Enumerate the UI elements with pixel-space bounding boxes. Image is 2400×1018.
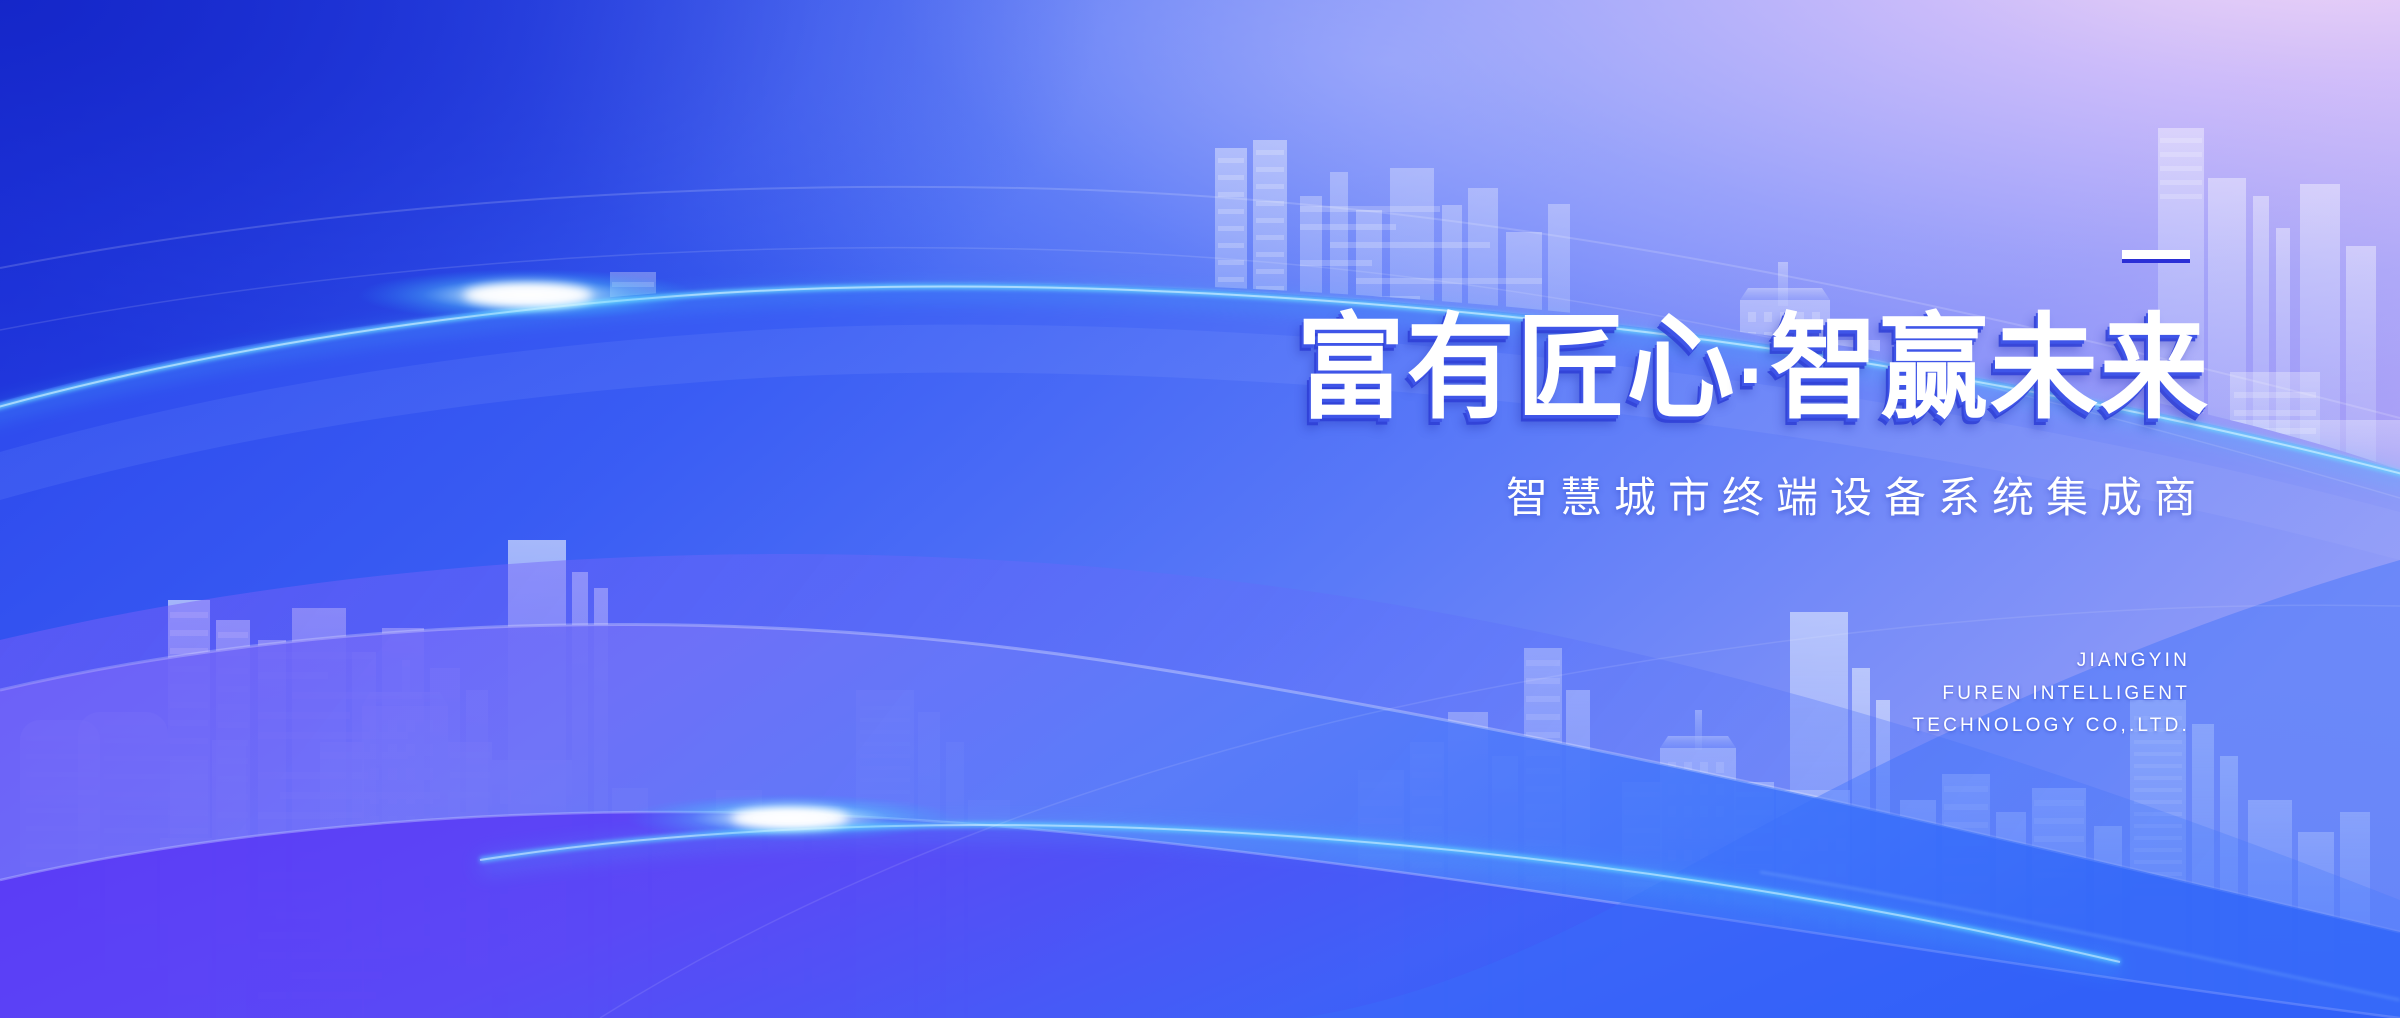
- company-line-city: JIANGYIN: [1912, 645, 2190, 678]
- horizontal-dash-icon: [2122, 250, 2190, 259]
- headline-part-two: 智赢未来: [1770, 303, 2210, 435]
- promotional-banner: 富有匠心·智赢未来 智慧城市终端设备系统集成商 JIANGYIN FUREN I…: [0, 0, 2400, 1018]
- company-name-block: JIANGYIN FUREN INTELLIGENT TECHNOLOGY CO…: [1912, 645, 2190, 743]
- headline-separator: ·: [1737, 331, 1770, 420]
- page-title: 富有匠心·智赢未来: [1050, 309, 2210, 430]
- company-line-name: FUREN INTELLIGENT: [1912, 678, 2190, 711]
- title-block: 富有匠心·智赢未来 智慧城市终端设备系统集成商: [1050, 250, 2210, 525]
- page-subtitle: 智慧城市终端设备系统集成商: [1050, 464, 2210, 525]
- company-line-suffix: TECHNOLOGY CO,.LTD.: [1912, 710, 2190, 743]
- headline-part-one: 富有匠心: [1297, 303, 1737, 435]
